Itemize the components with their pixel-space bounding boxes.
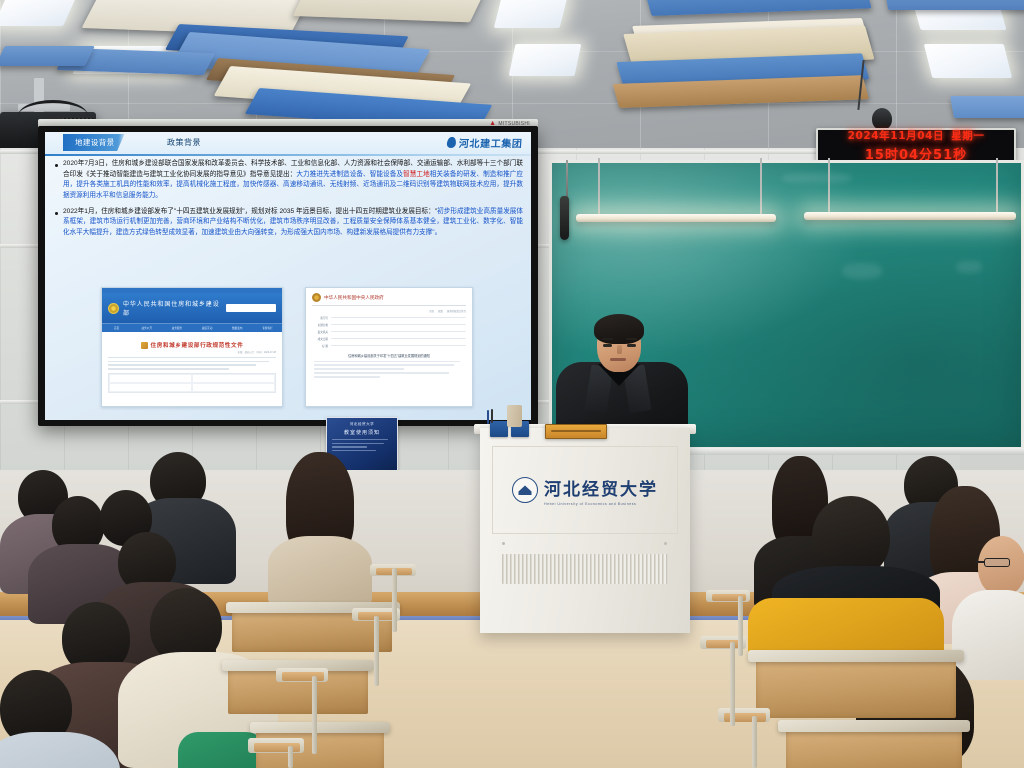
chalk-smudge [956,261,982,273]
gov-nav-item: 政务公开 [132,324,161,332]
desk-item-box [490,421,508,437]
eyeglasses-icon [984,558,1010,567]
gov-nav-item: 首页 [102,324,131,332]
student-torso [952,590,1024,680]
company-logo: 河北建工集团 [447,135,523,150]
text-line [314,361,460,363]
doc-table [108,373,276,393]
slide-bullet: 2020年7月3日，住房和城乡建设部联合国家发展和改革委员会、科学技术部、工业和… [55,159,523,202]
field-label: 标 题 [312,344,328,348]
logo-text: 河北建工集团 [459,135,524,150]
mohurd-website-screenshot: 中华人民共和国住房和城乡建设部 首页 政务公开 政务服务 政民互动 数据发布 专… [101,287,283,407]
light-rod [760,158,762,216]
ceiling-baffle [950,96,1024,118]
gov-nav-item: 专题专栏 [253,324,282,332]
light-rod [996,158,998,216]
projection-screen: 地建设背景 政策背景 河北建工集团 2020年7月3日，住房和城乡建设部联合国家… [38,126,538,426]
bullet-text: 2020年7月3日，住房和城乡建设部联合国家发展和改革委员会、科学技术部、工业和… [63,159,523,202]
doc2-breadcrumb: 首页 政策 国务院政策文件库 [306,309,472,316]
placard-title: 河北经贸大学 [332,422,392,427]
seat-back-wood [756,656,956,718]
doc2-divider [312,305,466,306]
led-date-row: 2024年11月04日 星期一 [848,128,985,143]
presenter-nose [617,345,622,354]
doc2-field: 索引号 [312,316,466,320]
bullet-dot-icon [55,164,58,167]
desk-cup [507,405,522,427]
bullet-dot-icon [55,212,58,215]
gov-banner: 中华人民共和国住房和城乡建设部 [102,293,282,323]
doc-body-lines [102,361,282,371]
logo-anchor-icon [447,137,457,148]
slide-divider [45,154,531,156]
seal-icon [141,342,148,349]
breadcrumb-item: 政策 [438,309,443,313]
doc-red-title-row: 住房和城乡建设部行政规范性文件 [102,341,282,349]
gov-nav-item: 数据发布 [223,324,252,332]
seat-frame [778,720,970,732]
ceiling-light [924,44,1012,78]
armrest-pad [282,672,324,681]
table-cell [192,383,275,392]
field-value-bar [331,338,466,340]
chalk-smudge [782,173,852,183]
seat-frame [748,650,964,662]
field-label: 主题分类 [312,323,328,327]
light-rod [598,158,600,216]
slide-content: 2020年7月3日，住房和城乡建设部联合国家发展和改革委员会、科学技术部、工业和… [55,159,523,244]
presenter-eye [627,344,636,347]
ceiling-light [494,0,568,28]
ceiling-baffle [0,46,95,66]
seat-post [288,746,293,768]
doc2-field: 主题分类 [312,323,466,327]
seat-frame [250,722,390,733]
text-line [108,361,269,363]
doc2-site-title: 中华人民共和国中央人民政府 [324,295,384,301]
slide-bullet: 2022年1月，住房和城乡建设部发布了"十四五建筑业发展规划"，规划对标 203… [55,207,523,239]
armrest-pad [706,640,742,648]
presenter-brow [602,338,613,340]
text-line [314,376,380,378]
field-value-bar [331,345,466,347]
seat-post [738,596,743,656]
lecture-hall-photo: 2024年11月04日 星期一 15时04分51秒 ▲ MITSUBISHI 地… [0,0,1024,768]
seat-post [752,716,757,768]
led-clock: 2024年11月04日 星期一 15时04分51秒 [816,128,1016,162]
presentation-slide: 地建设背景 政策背景 河北建工集团 2020年7月3日，住房和城乡建设部联合国家… [45,132,531,420]
seat-post [392,568,397,632]
doc2-field: 标 题 [312,344,466,348]
national-emblem-icon [312,293,321,302]
text-line [314,364,454,366]
breadcrumb-item: 首页 [429,309,434,313]
bullet-highlight-red: 智慧工地 [403,171,430,178]
desk-pen [491,409,493,423]
doc2-body-lines [306,361,472,379]
chalk-smudge [842,263,882,279]
led-weekday: 星期一 [951,128,984,143]
armrest-pad [254,743,300,752]
ceiling-light [509,44,582,76]
doc2-field: 成文日期 [312,337,466,341]
hanging-mic-rod [566,160,568,198]
national-emblem-icon [108,303,119,314]
lectern-nameplate [545,424,607,439]
student-torso [268,536,372,606]
blackboard-light-right [804,212,1016,220]
field-value-bar [331,317,466,319]
table-cell [109,374,192,383]
bullet-highlight-blue-b: ，为形成强大国内市场、构建新发展格局提供有力支撑"。 [274,229,441,236]
text-line [108,368,229,370]
field-label: 发文机关 [312,330,328,334]
light-rod [828,158,830,216]
field-value-bar [331,331,466,333]
presenter-eye [603,344,612,347]
bullet-text: 2022年1月，住房和城乡建设部发布了"十四五建筑业发展规划"，规划对标 203… [63,207,523,239]
blackboard-light-left [576,214,776,222]
bullet-highlight-blue-a: 大力推进先进制造设备、智能设备及 [296,171,403,178]
table-cell [109,383,192,392]
ceiling-baffle [884,0,1024,10]
text-line [108,364,256,366]
doc2-doc-title: 住房和城乡建设部关于印发"十四五"建筑业发展规划的通知 [306,353,472,358]
doc-divider [108,357,276,358]
state-council-document-screenshot: 中华人民共和国中央人民政府 首页 政策 国务院政策文件库 索引号 主题分类 发文… [305,287,473,407]
doc-meta: 来源：部办公厅 时间：2020-07-28 [102,349,282,354]
slide-tab-active: 地建设背景 [63,134,125,151]
seat-post [374,616,379,686]
seat-back-wood [786,726,962,768]
text-line [314,368,404,370]
led-date: 2024年11月04日 [848,128,945,143]
audience-area [0,440,1024,768]
doc2-header: 中华人民共和国中央人民政府 [306,288,472,305]
gov-nav-item: 政民互动 [193,324,222,332]
gov-nav-item: 政务服务 [162,324,191,332]
breadcrumb-item: 国务院政策文件库 [447,309,466,313]
presenter-brow [626,338,637,340]
doc-red-title: 住房和城乡建设部行政规范性文件 [151,341,244,349]
seat-post [730,642,735,726]
desk-pen [487,410,489,424]
text-line [314,372,449,374]
seat-post [312,676,317,754]
bullet-lead: 2022年1月，住房和城乡建设部发布了"十四五建筑业发展规划"，规划对标 203… [63,208,437,215]
gov-search-box [226,304,276,312]
hanging-microphone [560,196,569,240]
placard-heading: 教室使用须知 [332,429,392,436]
doc2-field-list: 索引号 主题分类 发文机关 成文日期 标 题 [306,316,472,348]
gov-nav: 首页 政务公开 政务服务 政民互动 数据发布 专题专栏 [102,323,282,332]
gov-site-title: 中华人民共和国住房和城乡建设部 [123,299,222,317]
presenter-mouth [610,358,626,361]
field-value-bar [331,324,466,326]
slide-tab-secondary: 政策背景 [167,134,201,151]
slide-document-images: 中华人民共和国住房和城乡建设部 首页 政务公开 政务服务 政民互动 数据发布 专… [101,287,473,407]
table-cell [192,374,275,383]
doc2-field: 发文机关 [312,330,466,334]
field-label: 索引号 [312,316,328,320]
field-label: 成文日期 [312,337,328,341]
